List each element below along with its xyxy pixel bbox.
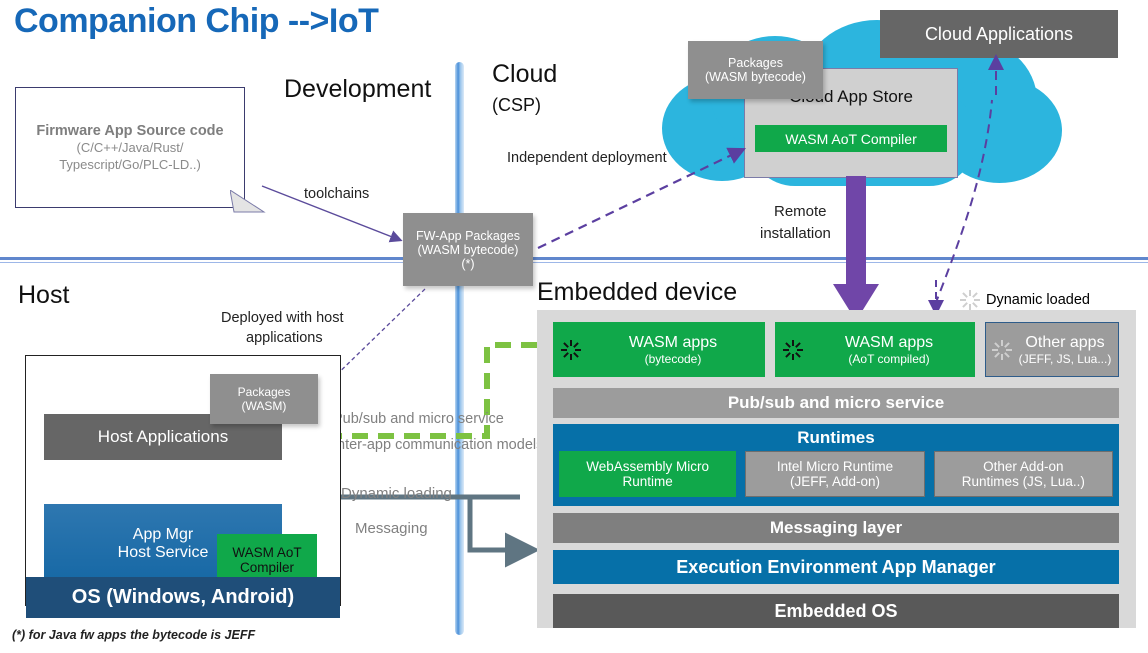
footnote: (*) for Java fw apps the bytecode is JEF… — [12, 628, 255, 642]
host-aot-line1: WASM AoT — [232, 545, 301, 560]
callout-fw-line1: FW-App Packages — [416, 229, 520, 243]
label-independent-deployment: Independent deployment — [507, 150, 667, 166]
embedded-runtime-0-l2: Runtime — [623, 474, 673, 489]
page-title: Companion Chip -->IoT — [14, 2, 378, 41]
callout-host-packages: Packages (WASM) — [210, 374, 318, 424]
sunburst-icon — [992, 340, 1012, 360]
label-remote-installation-line1: Remote — [774, 203, 827, 220]
callout-host-packages-line2: (WASM) — [242, 399, 287, 413]
embedded-os-bar[interactable]: Embedded OS — [553, 594, 1119, 628]
host-app-mgr-line1: App Mgr — [133, 526, 193, 544]
vertical-divider — [455, 62, 464, 635]
firmware-source-line2: Typescript/Go/PLC-LD..) — [59, 156, 201, 173]
firmware-source-line1: (C/C++/Java/Rust/ — [77, 139, 184, 156]
embedded-app-1-sub: (AoT compiled) — [803, 352, 975, 366]
label-deployed-line2: applications — [246, 330, 323, 346]
embedded-runtimes-group: Runtimes WebAssembly Micro Runtime Intel… — [553, 424, 1119, 506]
label-toolchains: toolchains — [304, 186, 369, 202]
callout-host-packages-line1: Packages — [238, 385, 291, 399]
section-label-development: Development — [284, 75, 431, 104]
embedded-apps-row: WASM apps (bytecode) WASM apps (AoT comp… — [553, 322, 1119, 377]
embedded-runtime-1-l1: Intel Micro Runtime — [777, 459, 893, 474]
callout-cloud-packages-line2: (WASM bytecode) — [705, 70, 806, 84]
embedded-app-manager-bar[interactable]: Execution Environment App Manager — [553, 550, 1119, 584]
legend-dynamic-loaded-label: Dynamic loaded — [986, 292, 1090, 308]
label-dynamic-loading: Dynamic loading — [341, 485, 452, 502]
embedded-os-label: Embedded OS — [774, 601, 897, 622]
embedded-app-other[interactable]: Other apps (JEFF, JS, Lua...) — [985, 322, 1119, 377]
host-aot-line2: Compiler — [240, 560, 294, 575]
section-sublabel-cloud: (CSP) — [492, 95, 541, 116]
firmware-callout-tail — [230, 190, 270, 220]
section-label-host: Host — [18, 281, 69, 310]
label-messaging: Messaging — [355, 520, 428, 537]
sunburst-icon — [783, 340, 803, 360]
host-os-box[interactable]: OS (Windows, Android) — [26, 577, 340, 618]
embedded-pubsub-label: Pub/sub and micro service — [728, 393, 944, 413]
embedded-app-manager-label: Execution Environment App Manager — [676, 557, 995, 578]
embedded-app-0-name: WASM apps — [581, 334, 765, 352]
remote-installation-arrow — [832, 176, 880, 324]
embedded-app-0-sub: (bytecode) — [581, 352, 765, 366]
embedded-runtime-intel[interactable]: Intel Micro Runtime (JEFF, Add-on) — [745, 451, 924, 497]
host-os-label: OS (Windows, Android) — [72, 586, 294, 609]
sunburst-icon — [561, 340, 581, 360]
cloud-applications-label: Cloud Applications — [925, 24, 1073, 45]
cloud-aot-compiler-box[interactable]: WASM AoT Compiler — [755, 125, 947, 152]
callout-fw-line3: (*) — [461, 257, 474, 271]
embedded-messaging-layer-bar[interactable]: Messaging layer — [553, 513, 1119, 543]
host-app-mgr-line2: Host Service — [118, 544, 209, 562]
legend-dynamic-loaded: Dynamic loaded — [960, 290, 1090, 310]
callout-cloud-packages: Packages (WASM bytecode) — [688, 41, 823, 99]
embedded-runtime-0-l1: WebAssembly Micro — [586, 459, 709, 474]
embedded-device-panel: WASM apps (bytecode) WASM apps (AoT comp… — [537, 310, 1136, 628]
embedded-runtime-wamr[interactable]: WebAssembly Micro Runtime — [559, 451, 736, 497]
firmware-source-box[interactable]: Firmware App Source code (C/C++/Java/Rus… — [15, 87, 245, 208]
label-pubsub-line1: Pub/sub and micro service — [333, 411, 504, 427]
embedded-runtime-2-l2: Runtimes (JS, Lua..) — [962, 474, 1085, 489]
embedded-runtimes-label: Runtimes — [553, 424, 1119, 451]
embedded-app-wasm-bytecode[interactable]: WASM apps (bytecode) — [553, 322, 765, 377]
embedded-app-wasm-aot[interactable]: WASM apps (AoT compiled) — [775, 322, 975, 377]
embedded-runtime-2-l1: Other Add-on — [983, 459, 1063, 474]
embedded-pubsub-bar[interactable]: Pub/sub and micro service — [553, 388, 1119, 418]
callout-fw-app-packages: FW-App Packages (WASM bytecode) (*) — [403, 213, 533, 286]
embedded-runtime-1-l2: (JEFF, Add-on) — [790, 474, 880, 489]
callout-fw-line2: (WASM bytecode) — [418, 243, 519, 257]
cloud-aot-compiler-label: WASM AoT Compiler — [785, 131, 916, 147]
cloud-applications-box[interactable]: Cloud Applications — [880, 10, 1118, 58]
embedded-messaging-layer-label: Messaging layer — [770, 518, 902, 538]
sunburst-icon — [960, 290, 980, 310]
label-pubsub-line2: Inter-app communication models — [333, 437, 543, 453]
label-deployed-line1: Deployed with host — [221, 310, 344, 326]
firmware-source-heading: Firmware App Source code — [36, 123, 223, 139]
embedded-app-2-name: Other apps — [1012, 334, 1118, 352]
host-applications-label: Host Applications — [98, 427, 228, 447]
embedded-app-1-name: WASM apps — [803, 334, 975, 352]
horizontal-divider-top-thin — [0, 262, 1148, 263]
section-label-cloud: Cloud — [492, 60, 557, 89]
section-label-embedded: Embedded device — [537, 278, 737, 307]
label-remote-installation-line2: installation — [760, 225, 831, 242]
horizontal-divider-top — [0, 257, 1148, 260]
embedded-runtime-other[interactable]: Other Add-on Runtimes (JS, Lua..) — [934, 451, 1113, 497]
callout-cloud-packages-line1: Packages — [728, 56, 783, 70]
embedded-app-2-sub: (JEFF, JS, Lua...) — [1012, 352, 1118, 366]
